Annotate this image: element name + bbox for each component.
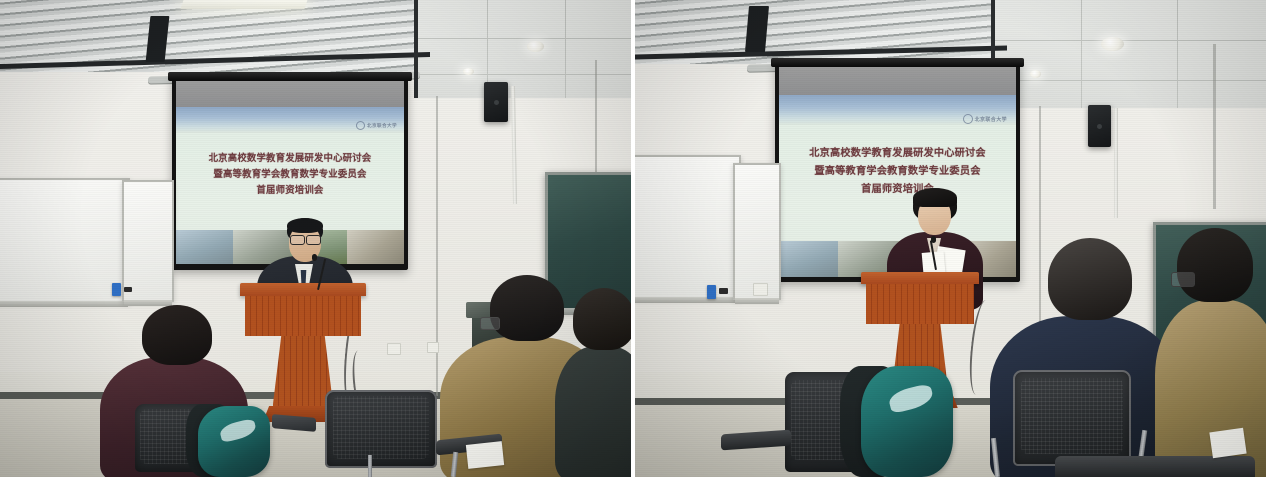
slide-title-line-1: 北京高校数学教育发展研发中心研讨会: [176, 150, 404, 166]
teal-jacket-left: [198, 406, 270, 477]
slide-title-line-2: 暨高等教育学会教育数学专业委员会: [176, 166, 404, 182]
whiteboard-marker-left: [124, 287, 132, 292]
attendee-tan-torso-right: [1155, 300, 1266, 477]
wall-outlet-left-2: [427, 342, 439, 353]
ceiling-downlight-right-2: [1030, 70, 1041, 78]
university-logo-right: 北京联合大学: [963, 114, 1007, 124]
right-photo-panel: 北京联合大学 北京高校数学教育发展研发中心研讨会 暨高等教育学会教育数学专业委员…: [635, 0, 1266, 477]
whiteboard-right-panel2: [733, 163, 781, 300]
attendee-tan-head-right: [1177, 228, 1253, 302]
slide-photo-1-right: [779, 241, 838, 277]
whiteboard-left: [0, 178, 130, 303]
wall-seam-left-2: [595, 60, 597, 180]
wall-speaker-right: [1088, 105, 1111, 147]
logo-text-right: 北京联合大学: [975, 116, 1007, 123]
ceiling-downlight-right: [1101, 37, 1124, 51]
chair-row-front-right: [1055, 456, 1255, 477]
microphone-head-right: [931, 236, 936, 243]
attendee-navy-head: [1048, 238, 1132, 320]
whiteboard-right: [635, 155, 741, 299]
whiteboard-eraser-left: [112, 283, 121, 296]
ceiling-divider-left: [414, 0, 418, 98]
ceiling-strip-light-left: [181, 0, 308, 9]
ceiling-tiles-left: [415, 0, 631, 98]
university-logo-left: 北京联合大学: [356, 121, 397, 130]
wall-speaker-left: [484, 82, 508, 122]
teal-jacket-right: [861, 366, 953, 477]
chair-left-center: [325, 390, 437, 477]
whiteboard-left-panel2: [122, 180, 174, 302]
ceiling-downlight-left-2: [463, 68, 474, 75]
microphone-head-left: [312, 254, 317, 261]
attendee-tan-glasses-right: [1171, 272, 1195, 287]
logo-text-left: 北京联合大学: [367, 123, 397, 129]
presenter-female-hair-top: [913, 188, 957, 207]
handout-paper-left: [466, 441, 504, 469]
slide-title-line-1-right: 北京高校数学教育发展研发中心研讨会: [779, 145, 1016, 163]
slide-title-line-3: 首届师资培训会: [176, 182, 404, 198]
attendee-dark-torso: [555, 346, 631, 477]
presenter-glasses-left-lens1: [290, 235, 305, 245]
slide-photo-1: [176, 230, 233, 264]
attendee-dark-head: [573, 288, 631, 350]
ceiling-bracket-right: [745, 6, 769, 52]
logo-seal-icon-right: [963, 114, 973, 124]
attendee-maroon-head: [142, 305, 212, 365]
ceiling-tiles-right: [995, 0, 1266, 108]
handout-paper-right: [1209, 428, 1246, 458]
jacket-logo-right: [887, 383, 935, 414]
logo-seal-icon: [356, 121, 365, 130]
whiteboard-eraser-right: [707, 285, 716, 299]
presenter-hair-top-left: [287, 218, 323, 233]
left-photo-panel: 北京联合大学 北京高校数学教育发展研发中心研讨会 暨高等教育学会教育数学专业委员…: [0, 0, 631, 477]
slide-title-line-2-right: 暨高等教育学会教育数学专业委员会: [779, 163, 1016, 181]
ceiling-downlight-left: [527, 41, 544, 52]
speaker-pole-right: [1114, 108, 1118, 218]
presenter-glasses-left-lens2: [306, 235, 321, 245]
slide-photo-4: [347, 230, 404, 264]
jacket-logo-left: [218, 418, 257, 443]
attendee-tan-head: [490, 275, 564, 341]
chair-leg-left-center: [368, 455, 372, 477]
photo-composite: 北京联合大学 北京高校数学教育发展研发中心研讨会 暨高等教育学会教育数学专业委员…: [0, 0, 1266, 477]
slide-title-left: 北京高校数学教育发展研发中心研讨会 暨高等教育学会教育数学专业委员会 首届师资培…: [176, 150, 404, 198]
wall-outlet-right: [753, 283, 768, 296]
wall-seam-right-1: [1213, 44, 1216, 209]
attendee-dark-jacket-left: [555, 288, 631, 477]
whiteboard-marker-right: [719, 288, 728, 294]
wall-outlet-left-1: [387, 343, 401, 355]
panel-divider: [631, 0, 635, 477]
attendee-tan-glasses: [480, 317, 500, 330]
